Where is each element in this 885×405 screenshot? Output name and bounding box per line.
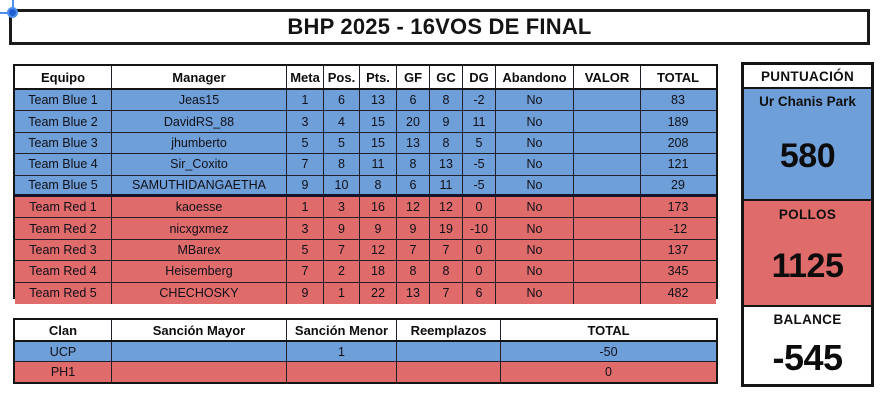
cell-gf[interactable]: 8 xyxy=(397,154,430,174)
cell-team[interactable]: Team Blue 5 xyxy=(15,176,112,194)
clan-row[interactable]: PH10 xyxy=(15,362,716,382)
cell-pos[interactable]: 1 xyxy=(324,283,360,304)
cell-pts[interactable]: 9 xyxy=(360,218,397,238)
clan-col-header-reemplazos: Reemplazos xyxy=(397,320,501,340)
cell-meta[interactable]: 5 xyxy=(287,240,324,260)
cell-manager[interactable]: Heisemberg xyxy=(112,261,287,281)
cell-pts[interactable]: 12 xyxy=(360,240,397,260)
cell-valor[interactable] xyxy=(574,133,641,153)
cell-abandono[interactable]: No xyxy=(496,218,574,238)
cell-team[interactable]: Team Blue 3 xyxy=(15,133,112,153)
cell-pts[interactable]: 22 xyxy=(360,283,397,304)
cell-team[interactable]: Team Red 4 xyxy=(15,261,112,281)
cell-pos[interactable]: 5 xyxy=(324,133,360,153)
table-row[interactable]: Team Blue 3jhumberto55151385No208 xyxy=(15,133,716,154)
cell-abandono[interactable]: No xyxy=(496,176,574,194)
cell-pos[interactable]: 4 xyxy=(324,111,360,131)
cell-manager[interactable]: Sir_Coxito xyxy=(112,154,287,174)
cell-pts[interactable]: 18 xyxy=(360,261,397,281)
cell-dg[interactable]: -10 xyxy=(463,218,496,238)
clan-col-header-total: TOTAL xyxy=(501,320,716,340)
cell-pts[interactable]: 8 xyxy=(360,176,397,194)
cell-pos[interactable]: 2 xyxy=(324,261,360,281)
cell-meta[interactable]: 3 xyxy=(287,111,324,131)
clan-cell-sancion-mayor[interactable] xyxy=(112,362,287,382)
cell-dg[interactable]: 0 xyxy=(463,240,496,260)
cell-manager[interactable]: MBarex xyxy=(112,240,287,260)
cell-pos[interactable]: 7 xyxy=(324,240,360,260)
col-header-equipo: Equipo xyxy=(15,66,112,88)
col-header-pos: Pos. xyxy=(324,66,360,88)
cell-meta[interactable]: 7 xyxy=(287,261,324,281)
cell-gc[interactable]: 7 xyxy=(430,240,463,260)
cell-gf[interactable]: 9 xyxy=(397,218,430,238)
cell-gc[interactable]: 19 xyxy=(430,218,463,238)
cell-valor[interactable] xyxy=(574,154,641,174)
balance-value: -545 xyxy=(744,331,871,384)
cell-total[interactable]: 345 xyxy=(641,261,715,281)
cell-total[interactable]: 121 xyxy=(641,154,715,174)
col-header-total: TOTAL xyxy=(641,66,715,88)
col-header-manager: Manager xyxy=(112,66,287,88)
score-blue-value: 580 xyxy=(744,113,871,199)
cell-total[interactable]: -12 xyxy=(641,218,715,238)
score-blue-label: Ur Chanis Park xyxy=(744,89,871,113)
clan-cell-reemplazos[interactable] xyxy=(397,342,501,361)
score-red-label: POLLOS xyxy=(744,201,871,227)
cell-gc[interactable]: 12 xyxy=(430,197,463,217)
cell-pts[interactable]: 15 xyxy=(360,133,397,153)
title-banner: BHP 2025 - 16VOS DE FINAL xyxy=(9,9,870,45)
cell-manager[interactable]: kaoesse xyxy=(112,197,287,217)
cell-gc[interactable]: 8 xyxy=(430,90,463,110)
clan-cell-clan[interactable]: UCP xyxy=(15,342,112,361)
col-header-meta: Meta xyxy=(287,66,324,88)
cell-manager[interactable]: nicxgxmez xyxy=(112,218,287,238)
cell-manager[interactable]: CHECHOSKY xyxy=(112,283,287,304)
balance-label: BALANCE xyxy=(744,307,871,331)
cell-valor[interactable] xyxy=(574,261,641,281)
table-row[interactable]: Team Blue 5SAMUTHIDANGAETHA9108611-5No29 xyxy=(15,176,716,197)
clan-cell-sancion-menor[interactable]: 1 xyxy=(287,342,397,361)
cell-valor[interactable] xyxy=(574,111,641,131)
cell-pos[interactable]: 3 xyxy=(324,197,360,217)
score-blue-block: Ur Chanis Park 580 xyxy=(744,89,871,201)
cell-valor[interactable] xyxy=(574,218,641,238)
cell-meta[interactable]: 7 xyxy=(287,154,324,174)
cell-pos[interactable]: 8 xyxy=(324,154,360,174)
clan-row[interactable]: UCP1-50 xyxy=(15,342,716,362)
cell-gc[interactable]: 7 xyxy=(430,283,463,304)
col-header-gf: GF xyxy=(397,66,430,88)
cell-manager[interactable]: Jeas15 xyxy=(112,90,287,110)
cell-dg[interactable]: 0 xyxy=(463,261,496,281)
cell-dg[interactable]: 11 xyxy=(463,111,496,131)
clan-table-header-row: ClanSanción MayorSanción MenorReemplazos… xyxy=(15,320,716,342)
cell-gc[interactable]: 9 xyxy=(430,111,463,131)
cell-manager[interactable]: jhumberto xyxy=(112,133,287,153)
balance-block: BALANCE -545 xyxy=(744,307,871,384)
cell-dg[interactable]: 0 xyxy=(463,197,496,217)
cell-total[interactable]: 189 xyxy=(641,111,715,131)
cell-team[interactable]: Team Blue 4 xyxy=(15,154,112,174)
cell-gf[interactable]: 6 xyxy=(397,176,430,194)
cell-valor[interactable] xyxy=(574,176,641,194)
cell-team[interactable]: Team Blue 2 xyxy=(15,111,112,131)
cell-total[interactable]: 208 xyxy=(641,133,715,153)
cell-total[interactable]: 137 xyxy=(641,240,715,260)
cell-valor[interactable] xyxy=(574,283,641,304)
cell-meta[interactable]: 1 xyxy=(287,90,324,110)
clan-cell-clan[interactable]: PH1 xyxy=(15,362,112,382)
score-panel: PUNTUACIÓN Ur Chanis Park 580 POLLOS 112… xyxy=(741,62,874,387)
clan-col-header-sanci-n-menor: Sanción Menor xyxy=(287,320,397,340)
cell-gc[interactable]: 8 xyxy=(430,133,463,153)
col-header-dg: DG xyxy=(463,66,496,88)
cell-total[interactable]: 482 xyxy=(641,283,715,304)
cell-meta[interactable]: 3 xyxy=(287,218,324,238)
cell-team[interactable]: Team Red 3 xyxy=(15,240,112,260)
cell-gc[interactable]: 8 xyxy=(430,261,463,281)
cell-gc[interactable]: 11 xyxy=(430,176,463,194)
cell-meta[interactable]: 9 xyxy=(287,176,324,194)
score-panel-heading: PUNTUACIÓN xyxy=(744,65,871,89)
clan-cell-total[interactable]: -50 xyxy=(501,342,716,361)
cell-gf[interactable]: 8 xyxy=(397,261,430,281)
cell-dg[interactable]: 5 xyxy=(463,133,496,153)
clan-col-header-sanci-n-mayor: Sanción Mayor xyxy=(112,320,287,340)
spreadsheet-page: BHP 2025 - 16VOS DE FINAL EquipoManagerM… xyxy=(0,0,885,405)
cell-meta[interactable]: 9 xyxy=(287,283,324,304)
cell-gf[interactable]: 7 xyxy=(397,240,430,260)
clan-cell-reemplazos[interactable] xyxy=(397,362,501,382)
cell-meta[interactable]: 5 xyxy=(287,133,324,153)
clan-cell-sancion-menor[interactable] xyxy=(287,362,397,382)
cell-team[interactable]: Team Red 5 xyxy=(15,283,112,304)
cell-abandono[interactable]: No xyxy=(496,154,574,174)
clan-table-body: UCP1-50PH10 xyxy=(15,342,716,382)
cell-team[interactable]: Team Red 1 xyxy=(15,197,112,217)
cell-abandono[interactable]: No xyxy=(496,261,574,281)
cell-team[interactable]: Team Red 2 xyxy=(15,218,112,238)
clan-col-header-clan: Clan xyxy=(15,320,112,340)
cell-dg[interactable]: -2 xyxy=(463,90,496,110)
cell-meta[interactable]: 1 xyxy=(287,197,324,217)
table-row[interactable]: Team Blue 4Sir_Coxito7811813-5No121 xyxy=(15,154,716,175)
cell-dg[interactable]: -5 xyxy=(463,154,496,174)
cell-abandono[interactable]: No xyxy=(496,240,574,260)
cell-pos[interactable]: 9 xyxy=(324,218,360,238)
table-row[interactable]: Team Red 2nicxgxmez399919-10No-12 xyxy=(15,218,716,239)
score-red-value: 1125 xyxy=(744,227,871,305)
cell-total[interactable]: 29 xyxy=(641,176,715,194)
cell-manager[interactable]: SAMUTHIDANGAETHA xyxy=(112,176,287,194)
cell-gf[interactable]: 20 xyxy=(397,111,430,131)
table-row[interactable]: Team Blue 2DavidRS_88341520911No189 xyxy=(15,111,716,132)
col-header-valor: VALOR xyxy=(574,66,641,88)
cell-abandono[interactable]: No xyxy=(496,111,574,131)
cell-abandono[interactable]: No xyxy=(496,197,574,217)
cell-dg[interactable]: -5 xyxy=(463,176,496,194)
cell-total[interactable]: 83 xyxy=(641,90,715,110)
cell-pos[interactable]: 10 xyxy=(324,176,360,194)
cell-valor[interactable] xyxy=(574,90,641,110)
cell-gf[interactable]: 13 xyxy=(397,283,430,304)
cell-team[interactable]: Team Blue 1 xyxy=(15,90,112,110)
cell-valor[interactable] xyxy=(574,240,641,260)
cell-dg[interactable]: 6 xyxy=(463,283,496,304)
clan-cell-sancion-mayor[interactable] xyxy=(112,342,287,361)
cell-pts[interactable]: 13 xyxy=(360,90,397,110)
cell-gf[interactable]: 6 xyxy=(397,90,430,110)
cell-abandono[interactable]: No xyxy=(496,283,574,304)
page-title: BHP 2025 - 16VOS DE FINAL xyxy=(287,14,591,40)
col-header-pts: Pts. xyxy=(360,66,397,88)
cell-pts[interactable]: 11 xyxy=(360,154,397,174)
cell-abandono[interactable]: No xyxy=(496,90,574,110)
table-row[interactable]: Team Red 1kaoesse131612120No173 xyxy=(15,197,716,218)
standings-table: EquipoManagerMetaPos.Pts.GFGCDGAbandonoV… xyxy=(13,64,718,299)
cell-pos[interactable]: 6 xyxy=(324,90,360,110)
col-header-abandono: Abandono xyxy=(496,66,574,88)
table-row[interactable]: Team Red 5CHECHOSKY91221376No482 xyxy=(15,283,716,304)
cell-gc[interactable]: 13 xyxy=(430,154,463,174)
cell-abandono[interactable]: No xyxy=(496,133,574,153)
clan-cell-total[interactable]: 0 xyxy=(501,362,716,382)
cell-gf[interactable]: 13 xyxy=(397,133,430,153)
clan-table: ClanSanción MayorSanción MenorReemplazos… xyxy=(13,318,718,384)
cell-gf[interactable]: 12 xyxy=(397,197,430,217)
score-red-block: POLLOS 1125 xyxy=(744,201,871,307)
selection-handle-dot[interactable] xyxy=(7,7,18,18)
table-header-row: EquipoManagerMetaPos.Pts.GFGCDGAbandonoV… xyxy=(15,66,716,90)
cell-manager[interactable]: DavidRS_88 xyxy=(112,111,287,131)
col-header-gc: GC xyxy=(430,66,463,88)
table-row[interactable]: Team Red 3MBarex5712770No137 xyxy=(15,240,716,261)
cell-pts[interactable]: 16 xyxy=(360,197,397,217)
table-row[interactable]: Team Blue 1Jeas15161368-2No83 xyxy=(15,90,716,111)
cell-pts[interactable]: 15 xyxy=(360,111,397,131)
table-body: Team Blue 1Jeas15161368-2No83Team Blue 2… xyxy=(15,90,716,304)
cell-valor[interactable] xyxy=(574,197,641,217)
cell-total[interactable]: 173 xyxy=(641,197,715,217)
table-row[interactable]: Team Red 4Heisemberg7218880No345 xyxy=(15,261,716,282)
